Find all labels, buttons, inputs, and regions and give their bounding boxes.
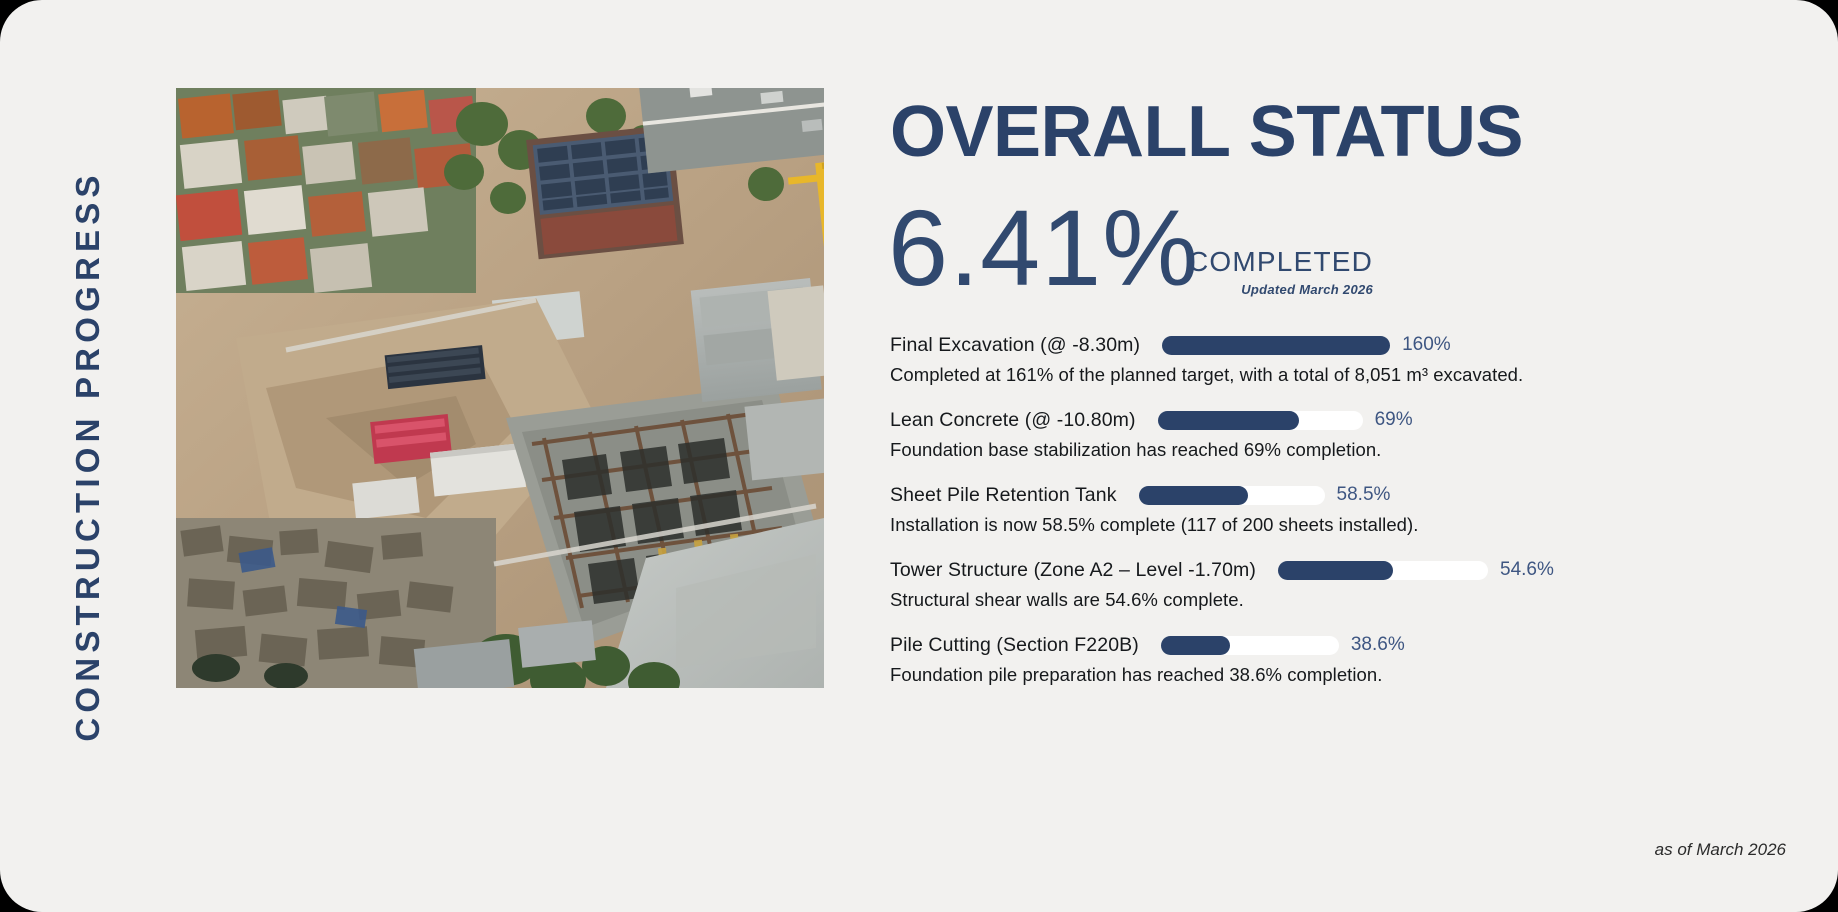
progress-item-row: Sheet Pile Retention Tank 58.5% — [890, 480, 1838, 510]
overall-percentage: 6.41% — [888, 194, 1199, 302]
progress-bar-fill — [1139, 486, 1248, 505]
progress-bar-track — [1139, 486, 1325, 505]
construction-site-photo — [176, 88, 824, 688]
photo-illustration — [176, 88, 824, 688]
progress-bar-track — [1278, 561, 1488, 580]
progress-bar-value: 38.6% — [1351, 634, 1405, 656]
progress-item-label: Tower Structure (Zone A2 – Level -1.70m) — [890, 559, 1256, 582]
footer-note: as of March 2026 — [1655, 840, 1786, 860]
completed-block: COMPLETED Updated March 2026 — [1188, 248, 1373, 296]
progress-item-label: Final Excavation (@ -8.30m) — [890, 334, 1140, 357]
progress-item-description: Foundation base stabilization has reache… — [890, 439, 1838, 461]
progress-bar-value: 160% — [1402, 334, 1451, 356]
progress-item: Lean Concrete (@ -10.80m) 69% Foundation… — [890, 405, 1838, 480]
progress-item-row: Final Excavation (@ -8.30m) 160% — [890, 330, 1838, 360]
progress-item-description: Structural shear walls are 54.6% complet… — [890, 589, 1838, 611]
progress-bar-value: 69% — [1375, 409, 1413, 431]
progress-item-row: Lean Concrete (@ -10.80m) 69% — [890, 405, 1838, 435]
side-title-container: CONSTRUCTION PROGRESS — [0, 0, 176, 912]
progress-bar-value: 58.5% — [1337, 484, 1391, 506]
progress-item-row: Pile Cutting (Section F220B) 38.6% — [890, 630, 1838, 660]
progress-report-card: CONSTRUCTION PROGRESS — [0, 0, 1838, 912]
page-title: OVERALL STATUS — [890, 96, 1523, 168]
progress-item-description: Installation is now 58.5% complete (117 … — [890, 514, 1838, 536]
status-panel: OVERALL STATUS 6.41% COMPLETED Updated M… — [890, 0, 1838, 912]
page-title-vertical: CONSTRUCTION PROGRESS — [69, 170, 107, 741]
progress-item-description: Completed at 161% of the planned target,… — [890, 364, 1838, 386]
progress-bar-track — [1162, 336, 1390, 355]
progress-bar-fill — [1162, 336, 1390, 355]
progress-item-label: Lean Concrete (@ -10.80m) — [890, 409, 1136, 432]
completed-label: COMPLETED — [1188, 248, 1373, 276]
progress-bar-track — [1158, 411, 1363, 430]
progress-bar-fill — [1158, 411, 1299, 430]
progress-item-list: Final Excavation (@ -8.30m) 160% Complet… — [890, 330, 1838, 705]
progress-item: Pile Cutting (Section F220B) 38.6% Found… — [890, 630, 1838, 705]
progress-item-description: Foundation pile preparation has reached … — [890, 664, 1838, 686]
progress-item-label: Sheet Pile Retention Tank — [890, 484, 1117, 507]
progress-item: Final Excavation (@ -8.30m) 160% Complet… — [890, 330, 1838, 405]
updated-label: Updated March 2026 — [1188, 283, 1373, 296]
progress-item: Tower Structure (Zone A2 – Level -1.70m)… — [890, 555, 1838, 630]
progress-item-row: Tower Structure (Zone A2 – Level -1.70m)… — [890, 555, 1838, 585]
progress-bar-value: 54.6% — [1500, 559, 1554, 581]
progress-bar-fill — [1278, 561, 1393, 580]
progress-item-label: Pile Cutting (Section F220B) — [890, 634, 1139, 657]
progress-bar-fill — [1161, 636, 1230, 655]
progress-bar-track — [1161, 636, 1339, 655]
progress-item: Sheet Pile Retention Tank 58.5% Installa… — [890, 480, 1838, 555]
